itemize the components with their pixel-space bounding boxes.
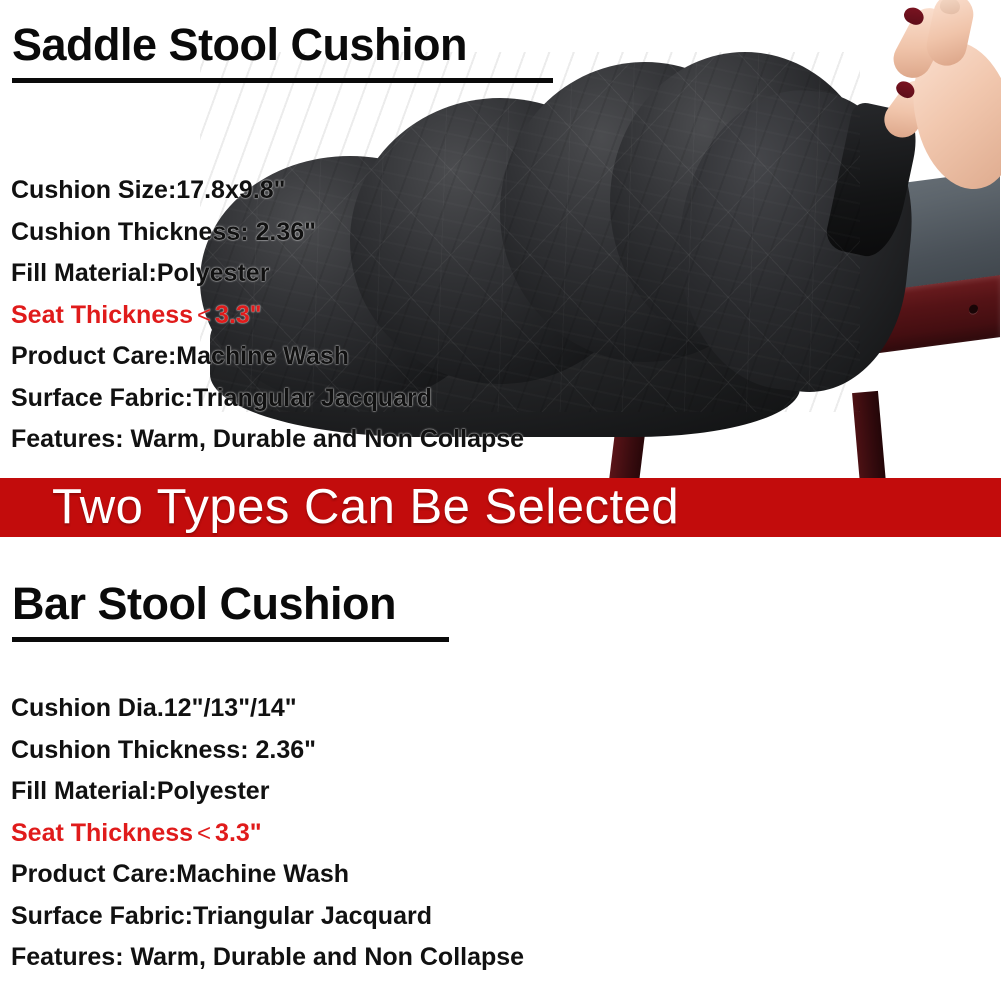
spec-prefix: Seat Thickness — [11, 301, 193, 329]
spec-item: Fill Material:Polyester — [11, 771, 524, 813]
spec-item: Product Care:Machine Wash — [11, 854, 524, 896]
spec-item: Cushion Thickness: 2.36" — [11, 212, 524, 254]
spec-item-seat-thickness: Seat Thickness<3.3" — [11, 813, 524, 855]
spec-item: Features: Warm, Durable and Non Collapse — [11, 937, 524, 979]
spec-item-seat-thickness: Seat Thickness<3.3" — [11, 295, 524, 337]
less-than-symbol: < — [193, 820, 215, 847]
spec-item: Surface Fabric:Triangular Jacquard — [11, 378, 524, 420]
saddle-spec-list: Cushion Size:17.8x9.8" Cushion Thickness… — [11, 170, 524, 461]
two-types-banner: Two Types Can Be Selected — [0, 478, 1001, 537]
spec-item: Cushion Size:17.8x9.8" — [11, 170, 524, 212]
bar-title-underline — [12, 637, 449, 642]
hand — [880, 0, 1001, 210]
infographic-page: Saddle Stool Cushion Cushion Size:17.8x9… — [0, 0, 1001, 1001]
spec-prefix: Seat Thickness — [11, 819, 193, 847]
spec-item: Surface Fabric:Triangular Jacquard — [11, 896, 524, 938]
spec-suffix: 3.3" — [215, 301, 262, 329]
spec-item: Fill Material:Polyester — [11, 253, 524, 295]
spec-item: Cushion Thickness: 2.36" — [11, 730, 524, 772]
spec-suffix: 3.3" — [215, 819, 262, 847]
spec-item: Cushion Dia.12"/13"/14" — [11, 688, 524, 730]
spec-item: Features: Warm, Durable and Non Collapse — [11, 419, 524, 461]
banner-text: Two Types Can Be Selected — [52, 483, 679, 532]
saddle-section-title: Saddle Stool Cushion — [12, 22, 467, 67]
bar-section-title: Bar Stool Cushion — [12, 581, 396, 626]
bar-spec-list: Cushion Dia.12"/13"/14" Cushion Thicknes… — [11, 688, 524, 979]
saddle-stool-section: Saddle Stool Cushion Cushion Size:17.8x9… — [0, 0, 1001, 478]
spec-item: Product Care:Machine Wash — [11, 336, 524, 378]
saddle-title-underline — [12, 78, 553, 83]
less-than-symbol: < — [193, 302, 215, 329]
